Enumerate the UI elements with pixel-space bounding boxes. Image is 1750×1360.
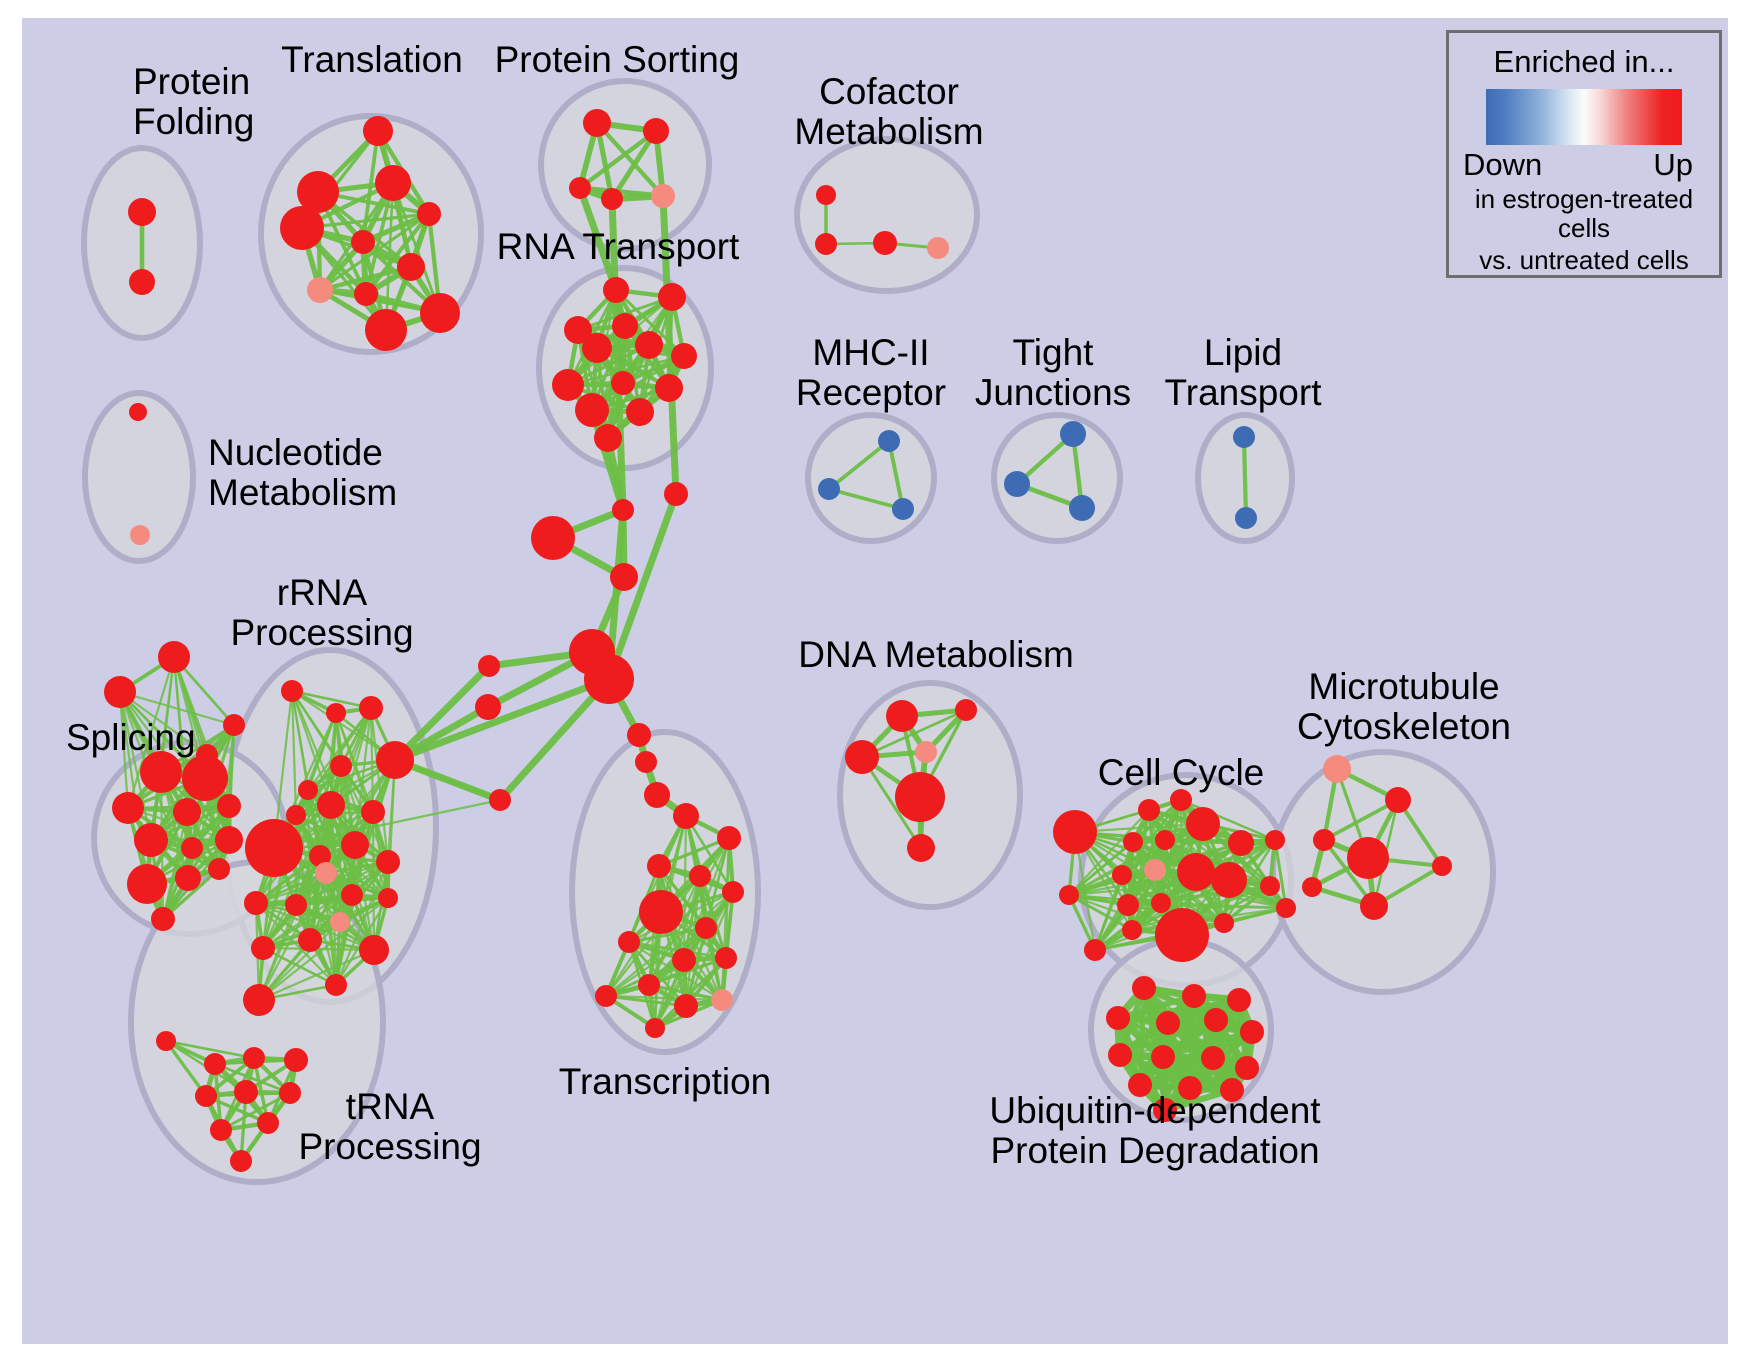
graph-node[interactable] [285,894,307,916]
graph-node[interactable] [1227,988,1251,1012]
graph-node[interactable] [1144,859,1166,881]
cluster-label-ubiquitin-degradation: Ubiquitin-dependent Protein Degradation [989,1091,1320,1171]
cluster-label-cell-cycle: Cell Cycle [1098,753,1265,793]
graph-node[interactable] [644,782,670,808]
graph-node[interactable] [895,772,945,822]
graph-node[interactable] [673,803,699,829]
graph-node[interactable] [1059,885,1079,905]
graph-node[interactable] [181,837,203,859]
graph-node[interactable] [612,499,634,521]
graph-node[interactable] [1235,1056,1259,1080]
graph-node[interactable] [361,800,385,824]
graph-node[interactable] [317,791,345,819]
graph-node[interactable] [129,403,147,421]
graph-node[interactable] [315,862,337,884]
graph-node[interactable] [326,703,346,723]
graph-node[interactable] [298,928,322,952]
graph-node[interactable] [359,935,389,965]
graph-node[interactable] [638,974,660,996]
graph-node[interactable] [672,948,696,972]
graph-node[interactable] [251,936,275,960]
graph-node[interactable] [1112,865,1132,885]
cluster-label-protein-folding: Protein Folding [133,62,254,142]
graph-node[interactable] [1084,939,1106,961]
graph-node[interactable] [626,398,654,426]
graph-node[interactable] [1204,1008,1228,1032]
cluster-cofactor-metabolism [797,139,977,291]
graph-node[interactable] [955,699,977,721]
graph-node[interactable] [417,202,441,226]
graph-node[interactable] [195,1085,217,1107]
graph-node[interactable] [217,794,241,818]
graph-node[interactable] [128,198,156,226]
graph-node[interactable] [601,188,623,210]
graph-node[interactable] [658,283,686,311]
cluster-mhc-ii-receptor [808,415,934,541]
cluster-label-cofactor-metabolism: Cofactor Metabolism [794,72,983,152]
graph-node[interactable] [151,907,175,931]
legend-high-label: Up [1653,147,1693,183]
graph-node[interactable] [298,780,318,800]
graph-node[interactable] [575,393,609,427]
graph-node[interactable] [722,881,744,903]
graph-node[interactable] [1108,1043,1132,1067]
graph-node[interactable] [1260,876,1280,896]
graph-node[interactable] [286,805,306,825]
graph-node[interactable] [489,789,511,811]
cluster-label-trna-processing: tRNA Processing [298,1087,481,1167]
graph-node[interactable] [845,740,879,774]
cluster-label-dna-metabolism: DNA Metabolism [798,635,1074,675]
graph-node[interactable] [611,371,635,395]
graph-node[interactable] [1240,1020,1264,1044]
graph-node[interactable] [1155,830,1175,850]
graph-node[interactable] [127,864,167,904]
graph-node[interactable] [420,293,460,333]
graph-node[interactable] [1106,1006,1130,1030]
graph-node[interactable] [651,184,675,208]
cluster-label-translation: Translation [281,40,463,80]
cluster-label-splicing: Splicing [66,718,196,758]
graph-node[interactable] [376,850,400,874]
graph-node[interactable] [610,563,638,591]
graph-node[interactable] [284,1048,308,1072]
graph-node[interactable] [1138,799,1160,821]
graph-node[interactable] [815,233,837,255]
graph-node[interactable] [1201,1046,1225,1070]
graph-node[interactable] [257,1112,279,1134]
graph-node[interactable] [104,676,136,708]
legend-title: Enriched in... [1449,44,1719,80]
graph-node[interactable] [341,884,363,906]
graph-edge [373,812,374,950]
graph-node[interactable] [907,834,935,862]
legend-endpoints: Down Up [1449,147,1719,183]
graph-node[interactable] [664,482,688,506]
figure-root: Protein FoldingTranslationProtein Sortin… [0,0,1750,1360]
graph-node[interactable] [1156,1011,1180,1035]
graph-node[interactable] [175,865,201,891]
graph-node[interactable] [1360,892,1388,920]
graph-node[interactable] [475,694,501,720]
cluster-label-microtubule-cytoskeleton: Microtubule Cytoskeleton [1297,667,1511,747]
graph-node[interactable] [639,890,683,934]
graph-node[interactable] [1151,1045,1175,1069]
graph-node[interactable] [363,116,393,146]
graph-node[interactable] [1004,471,1030,497]
graph-node[interactable] [230,1150,252,1172]
graph-node[interactable] [1211,862,1247,898]
graph-node[interactable] [182,755,228,801]
graph-node[interactable] [635,751,657,773]
graph-node[interactable] [927,237,949,259]
graph-node[interactable] [594,424,622,452]
graph-node[interactable] [618,931,640,953]
graph-node[interactable] [531,516,575,560]
graph-node[interactable] [204,1053,226,1075]
graph-node[interactable] [689,865,711,887]
graph-node[interactable] [717,826,741,850]
graph-node[interactable] [711,989,733,1011]
graph-node[interactable] [886,700,918,732]
graph-node[interactable] [243,984,275,1016]
graph-node[interactable] [375,165,411,201]
graph-node[interactable] [1117,894,1139,916]
graph-node[interactable] [208,858,230,880]
graph-node[interactable] [365,309,407,351]
cluster-label-tight-junctions: Tight Junctions [975,333,1131,413]
graph-node[interactable] [1347,837,1389,879]
cluster-protein-sorting [541,81,709,249]
cluster-label-mhc-ii-receptor: MHC-II Receptor [796,333,946,413]
graph-node[interactable] [1155,908,1209,962]
graph-node[interactable] [1228,830,1254,856]
graph-node[interactable] [478,655,500,677]
cluster-label-rna-transport: RNA Transport [497,227,740,267]
graph-node[interactable] [647,854,671,878]
graph-node[interactable] [892,498,914,520]
graph-node[interactable] [378,888,398,908]
graph-node[interactable] [1265,830,1285,850]
graph-node[interactable] [674,994,698,1018]
graph-node[interactable] [354,282,378,306]
graph-node[interactable] [1122,920,1142,940]
graph-node[interactable] [569,177,591,199]
graph-node[interactable] [1235,507,1257,529]
graph-node[interactable] [603,277,629,303]
graph-node[interactable] [1177,853,1215,891]
legend-caption-line-1: in estrogen-treated cells [1449,185,1719,244]
graph-node[interactable] [1302,877,1322,897]
graph-node[interactable] [878,430,900,452]
graph-node[interactable] [1214,913,1234,933]
graph-node[interactable] [173,798,201,826]
graph-node[interactable] [1060,421,1086,447]
graph-node[interactable] [1132,976,1156,1000]
cluster-label-protein-sorting: Protein Sorting [495,40,740,80]
graph-node[interactable] [818,478,840,500]
graph-node[interactable] [1233,426,1255,448]
graph-node[interactable] [1313,829,1335,851]
graph-node[interactable] [359,696,383,720]
graph-node[interactable] [715,947,737,969]
graph-node[interactable] [645,1018,665,1038]
legend-caption-line-2: vs. untreated cells [1449,246,1719,275]
graph-node[interactable] [156,1031,176,1051]
cluster-label-lipid-transport: Lipid Transport [1165,333,1322,413]
graph-node[interactable] [1186,807,1220,841]
graph-node[interactable] [584,654,634,704]
cluster-label-nucleotide-metabolism: Nucleotide Metabolism [208,433,397,513]
graph-node[interactable] [245,819,303,877]
graph-node[interactable] [112,792,144,824]
graph-node[interactable] [655,374,683,402]
graph-node[interactable] [873,231,897,255]
legend-panel: Enriched in... Down Up in estrogen-treat… [1446,30,1722,278]
graph-node[interactable] [330,755,352,777]
graph-node[interactable] [1385,787,1411,813]
graph-node[interactable] [1276,898,1296,918]
graph-node[interactable] [351,230,375,254]
graph-node[interactable] [244,891,268,915]
graph-node[interactable] [1123,832,1143,852]
graph-node[interactable] [129,269,155,295]
graph-node[interactable] [330,912,350,932]
graph-node[interactable] [376,741,414,779]
legend-color-gradient [1486,89,1682,145]
graph-node[interactable] [583,109,611,137]
graph-node[interactable] [243,1047,265,1069]
graph-node[interactable] [223,714,245,736]
graph-node[interactable] [134,823,168,857]
graph-node[interactable] [280,206,324,250]
graph-node[interactable] [341,831,369,859]
graph-node[interactable] [643,118,669,144]
graph-node[interactable] [552,369,584,401]
graph-node[interactable] [582,333,612,363]
graph-node[interactable] [595,985,617,1007]
graph-node[interactable] [627,723,651,747]
graph-node[interactable] [215,826,243,854]
graph-edge [1244,437,1246,518]
graph-node[interactable] [635,331,663,359]
graph-node[interactable] [281,680,303,702]
graph-node[interactable] [130,525,150,545]
graph-node[interactable] [210,1119,232,1141]
graph-node[interactable] [1323,755,1351,783]
graph-node[interactable] [307,277,333,303]
graph-node[interactable] [1182,984,1206,1008]
graph-node[interactable] [397,253,425,281]
graph-node[interactable] [1432,856,1452,876]
graph-node[interactable] [234,1080,258,1104]
graph-node[interactable] [915,741,937,763]
graph-node[interactable] [671,343,697,369]
legend-low-label: Down [1463,147,1542,183]
graph-node[interactable] [158,641,190,673]
graph-node[interactable] [612,313,638,339]
graph-node[interactable] [1151,893,1171,913]
cluster-label-rrna-processing: rRNA Processing [230,573,413,653]
graph-node[interactable] [1053,810,1097,854]
graph-node[interactable] [325,974,347,996]
graph-node[interactable] [695,917,717,939]
graph-node[interactable] [1069,495,1095,521]
graph-node[interactable] [816,185,836,205]
cluster-label-transcription: Transcription [559,1062,771,1102]
